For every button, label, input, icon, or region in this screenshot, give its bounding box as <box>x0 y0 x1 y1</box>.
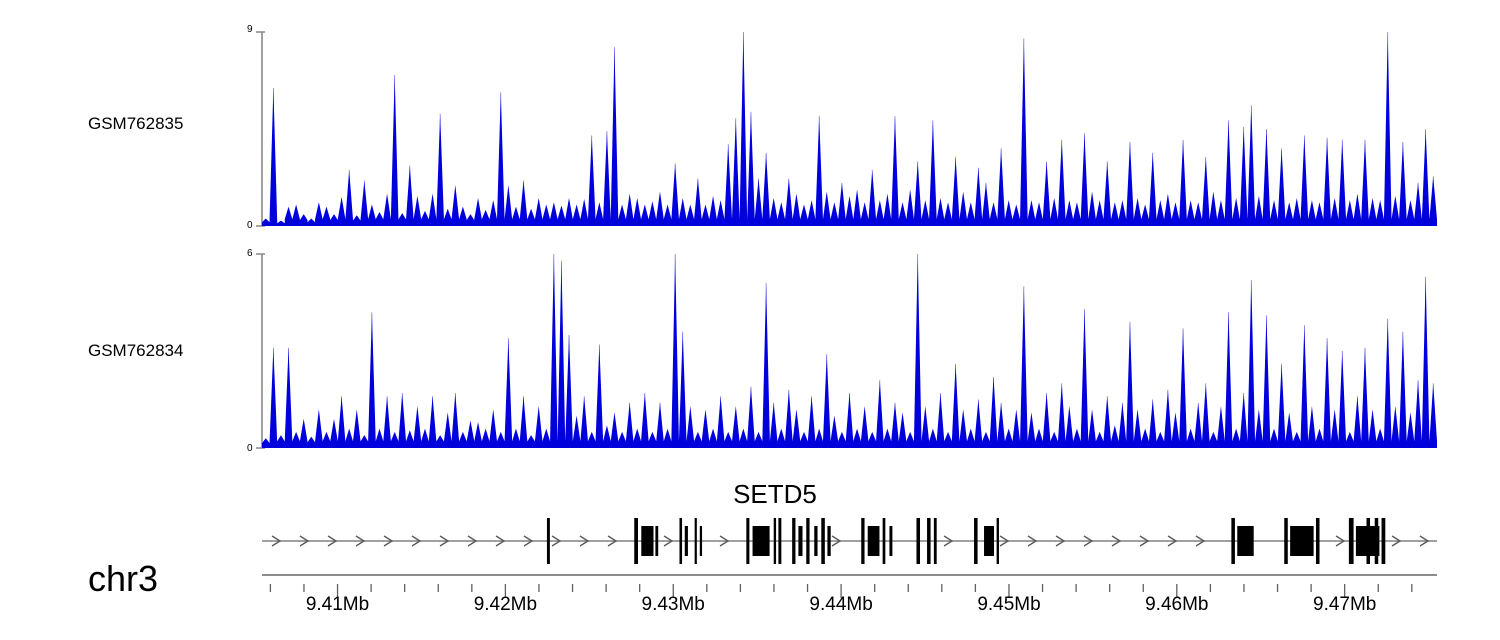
exon <box>792 518 795 564</box>
track1-ymin-label: 0 <box>247 220 253 231</box>
coverage-track-gsm762835[interactable] <box>255 25 1445 235</box>
exon <box>889 526 892 556</box>
gene-model-track[interactable] <box>255 510 1445 572</box>
ruler-tick-label: 9.43Mb <box>618 594 728 616</box>
exon <box>1231 518 1235 564</box>
exon <box>984 526 994 556</box>
ruler-tick-label: 9.46Mb <box>1122 594 1232 616</box>
gene-name-label: SETD5 <box>705 479 845 510</box>
exon <box>827 526 830 556</box>
exon <box>1349 518 1354 564</box>
track2-ymax-label: 6 <box>247 248 253 259</box>
genome-browser-panel: GSM762835 9 0 GSM762834 6 0 SETD5 chr3 9… <box>0 0 1500 640</box>
coverage-track-gsm762834[interactable] <box>255 249 1445 457</box>
chromosome-label: chr3 <box>88 558 158 600</box>
exon <box>753 526 770 556</box>
exon <box>868 526 880 556</box>
exon <box>814 526 817 556</box>
exon <box>916 518 920 564</box>
ruler-tick-label: 9.41Mb <box>283 594 393 616</box>
exon <box>934 518 937 564</box>
exon <box>774 518 776 564</box>
exon <box>1367 518 1371 564</box>
exon <box>700 526 702 556</box>
exon <box>634 518 638 564</box>
exon <box>547 518 550 564</box>
exon <box>806 518 809 564</box>
track2-ymin-label: 0 <box>247 443 253 454</box>
ruler-tick-label: 9.45Mb <box>954 594 1064 616</box>
exon <box>821 518 825 564</box>
ruler-tick-label: 9.47Mb <box>1290 594 1400 616</box>
exon <box>1375 518 1379 564</box>
track-label-gsm762834: GSM762834 <box>88 341 183 361</box>
exon <box>798 526 802 556</box>
exon <box>1382 518 1386 564</box>
exon <box>685 526 688 556</box>
ruler-tick-label: 9.42Mb <box>450 594 560 616</box>
exon <box>1290 526 1314 556</box>
exon <box>1316 518 1320 564</box>
exon <box>997 518 999 564</box>
exon <box>1284 518 1288 564</box>
ruler-tick-label: 9.44Mb <box>786 594 896 616</box>
exon <box>695 518 697 564</box>
exon <box>883 518 886 564</box>
track1-ymax-label: 9 <box>247 24 253 35</box>
exon <box>778 518 781 564</box>
exon <box>927 518 931 564</box>
track-label-gsm762835: GSM762835 <box>88 114 183 134</box>
exon <box>974 518 978 564</box>
exon <box>861 518 864 564</box>
exon <box>679 518 682 564</box>
exon <box>746 518 749 564</box>
exon <box>1237 526 1253 556</box>
exon <box>641 526 653 556</box>
exon <box>655 526 658 556</box>
